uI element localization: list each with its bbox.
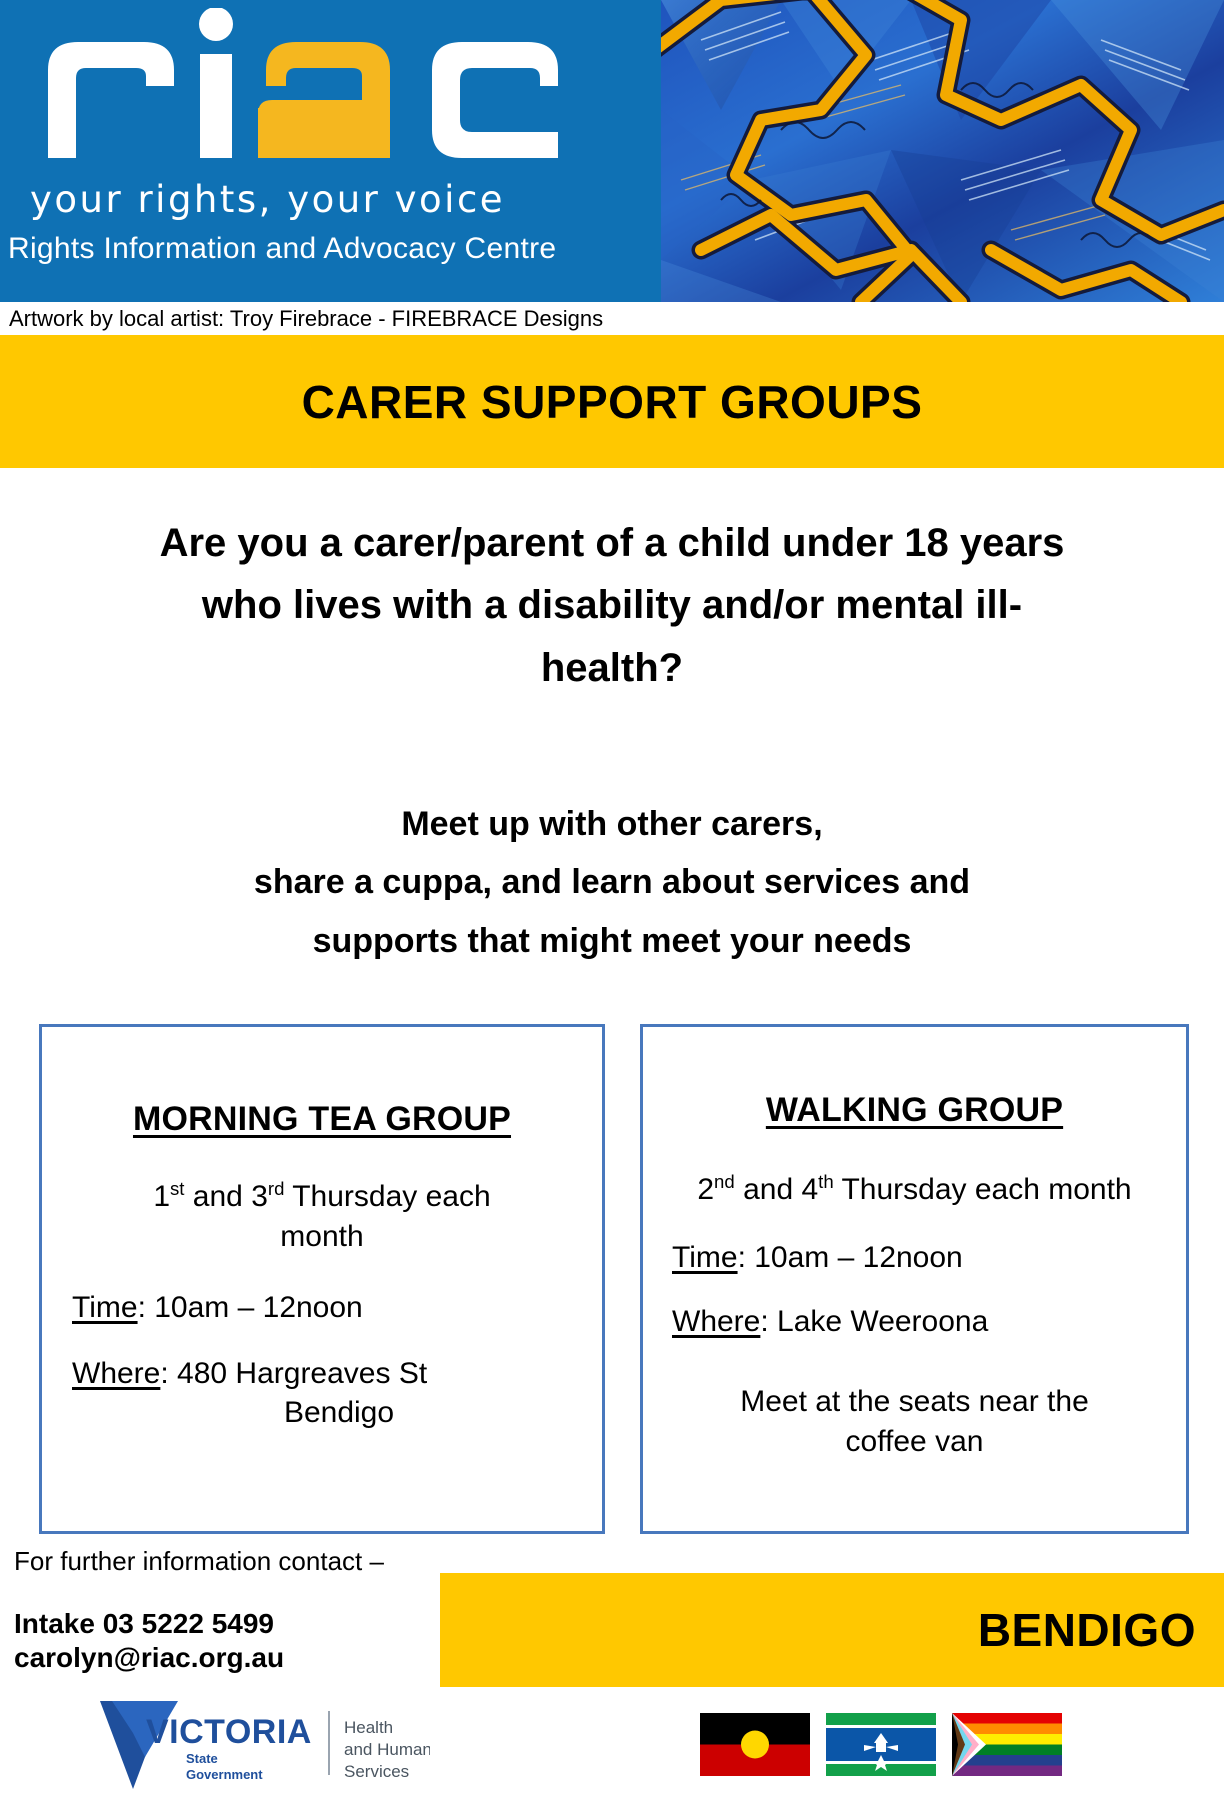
riac-subtitle: Rights Information and Advocacy Centre	[8, 232, 556, 266]
svg-text:Health: Health	[344, 1718, 393, 1737]
contact-block: For further information contact – Intake…	[14, 1546, 444, 1675]
riac-tagline: your rights, your voice	[30, 178, 505, 221]
time-label: Time	[672, 1241, 738, 1274]
time-label: Time	[72, 1291, 138, 1324]
contact-phone[interactable]: Intake 03 5222 5499	[14, 1607, 444, 1641]
time-value: : 10am – 12noon	[138, 1291, 363, 1324]
time-value: : 10am – 12noon	[738, 1241, 963, 1274]
svg-text:Government: Government	[186, 1767, 263, 1782]
schedule-mid: and 3	[184, 1180, 267, 1213]
contact-email[interactable]: carolyn@riac.org.au	[14, 1641, 444, 1675]
location-banner: BENDIGO	[440, 1573, 1224, 1687]
where-value: : Lake Weeroona	[760, 1305, 988, 1338]
walking-group-box: WALKING GROUP 2nd and 4th Thursday each …	[640, 1024, 1189, 1534]
schedule-ordinal-2: th	[818, 1171, 834, 1192]
torres-strait-islander-flag-icon	[826, 1713, 936, 1776]
subheadline-line-3: supports that might meet your needs	[0, 912, 1224, 970]
schedule-ordinal-2: rd	[268, 1178, 285, 1199]
svg-text:VICTORIA: VICTORIA	[146, 1713, 312, 1751]
schedule-mid: and 4	[735, 1173, 818, 1206]
poster-page: your rights, your voice Rights Informati…	[0, 0, 1224, 1800]
victoria-state-government-logo: VICTORIA State Government Health and Hum…	[90, 1697, 430, 1793]
morning-tea-time-row: Time: 10am – 12noon	[42, 1288, 602, 1328]
svg-text:Services: Services	[344, 1762, 409, 1781]
location-label: BENDIGO	[978, 1603, 1224, 1657]
morning-tea-group-box: MORNING TEA GROUP 1st and 3rd Thursday e…	[39, 1024, 605, 1534]
aboriginal-artwork-image	[661, 0, 1224, 302]
footer: VICTORIA State Government Health and Hum…	[0, 1687, 1224, 1800]
headline-block: Are you a carer/parent of a child under …	[0, 512, 1224, 699]
schedule-prefix: 2	[697, 1173, 714, 1206]
headline-line-3: health?	[0, 637, 1224, 699]
group-boxes: MORNING TEA GROUP 1st and 3rd Thursday e…	[0, 1024, 1224, 1534]
morning-tea-where-row: Where: 480 Hargreaves St	[42, 1354, 602, 1394]
contact-details: Intake 03 5222 5499 carolyn@riac.org.au	[14, 1607, 444, 1675]
schedule-prefix: 1	[153, 1180, 170, 1213]
header: your rights, your voice Rights Informati…	[0, 0, 1224, 302]
headline-line-2: who lives with a disability and/or menta…	[0, 574, 1224, 636]
headline-line-1: Are you a carer/parent of a child under …	[0, 512, 1224, 574]
artwork-attribution: Artwork by local artist: Troy Firebrace …	[0, 302, 1224, 335]
svg-text:State: State	[186, 1751, 218, 1766]
morning-tea-where-line-2: Bendigo	[42, 1393, 602, 1433]
inclusion-flags	[700, 1713, 1062, 1776]
meeting-note-line-2: coffee van	[689, 1422, 1140, 1462]
svg-text:and Human: and Human	[344, 1740, 430, 1759]
walking-meeting-note: Meet at the seats near the coffee van	[643, 1382, 1186, 1462]
riac-logo-panel: your rights, your voice Rights Informati…	[0, 0, 661, 302]
where-value: : 480 Hargreaves St	[160, 1357, 427, 1390]
title-bar: CARER SUPPORT GROUPS	[0, 335, 1224, 468]
where-label: Where	[672, 1305, 760, 1338]
meeting-note-line-1: Meet at the seats near the	[689, 1382, 1140, 1422]
page-title: CARER SUPPORT GROUPS	[302, 375, 923, 429]
schedule-suffix: Thursday each	[284, 1180, 490, 1213]
schedule-suffix: Thursday each month	[834, 1173, 1132, 1206]
artwork-attribution-text: Artwork by local artist: Troy Firebrace …	[0, 306, 603, 332]
walking-time-row: Time: 10am – 12noon	[643, 1238, 1186, 1278]
walking-where-row: Where: Lake Weeroona	[643, 1302, 1186, 1342]
morning-tea-group-title: MORNING TEA GROUP	[42, 1027, 602, 1139]
morning-tea-schedule: 1st and 3rd Thursday each month	[42, 1177, 602, 1256]
subheadline-block: Meet up with other carers, share a cuppa…	[0, 795, 1224, 970]
walking-group-title: WALKING GROUP	[643, 1027, 1186, 1130]
walking-schedule: 2nd and 4th Thursday each month	[643, 1170, 1186, 1210]
progress-pride-flag-icon	[952, 1713, 1062, 1776]
schedule-ordinal-1: st	[170, 1178, 184, 1199]
where-label: Where	[72, 1357, 160, 1390]
contact-intro: For further information contact –	[14, 1546, 444, 1577]
subheadline-line-1: Meet up with other carers,	[0, 795, 1224, 853]
subheadline-line-2: share a cuppa, and learn about services …	[0, 853, 1224, 911]
aboriginal-flag-icon	[700, 1713, 810, 1776]
schedule-line-2: month	[90, 1217, 554, 1257]
riac-wordmark-icon	[28, 8, 588, 168]
schedule-ordinal-1: nd	[714, 1171, 735, 1192]
